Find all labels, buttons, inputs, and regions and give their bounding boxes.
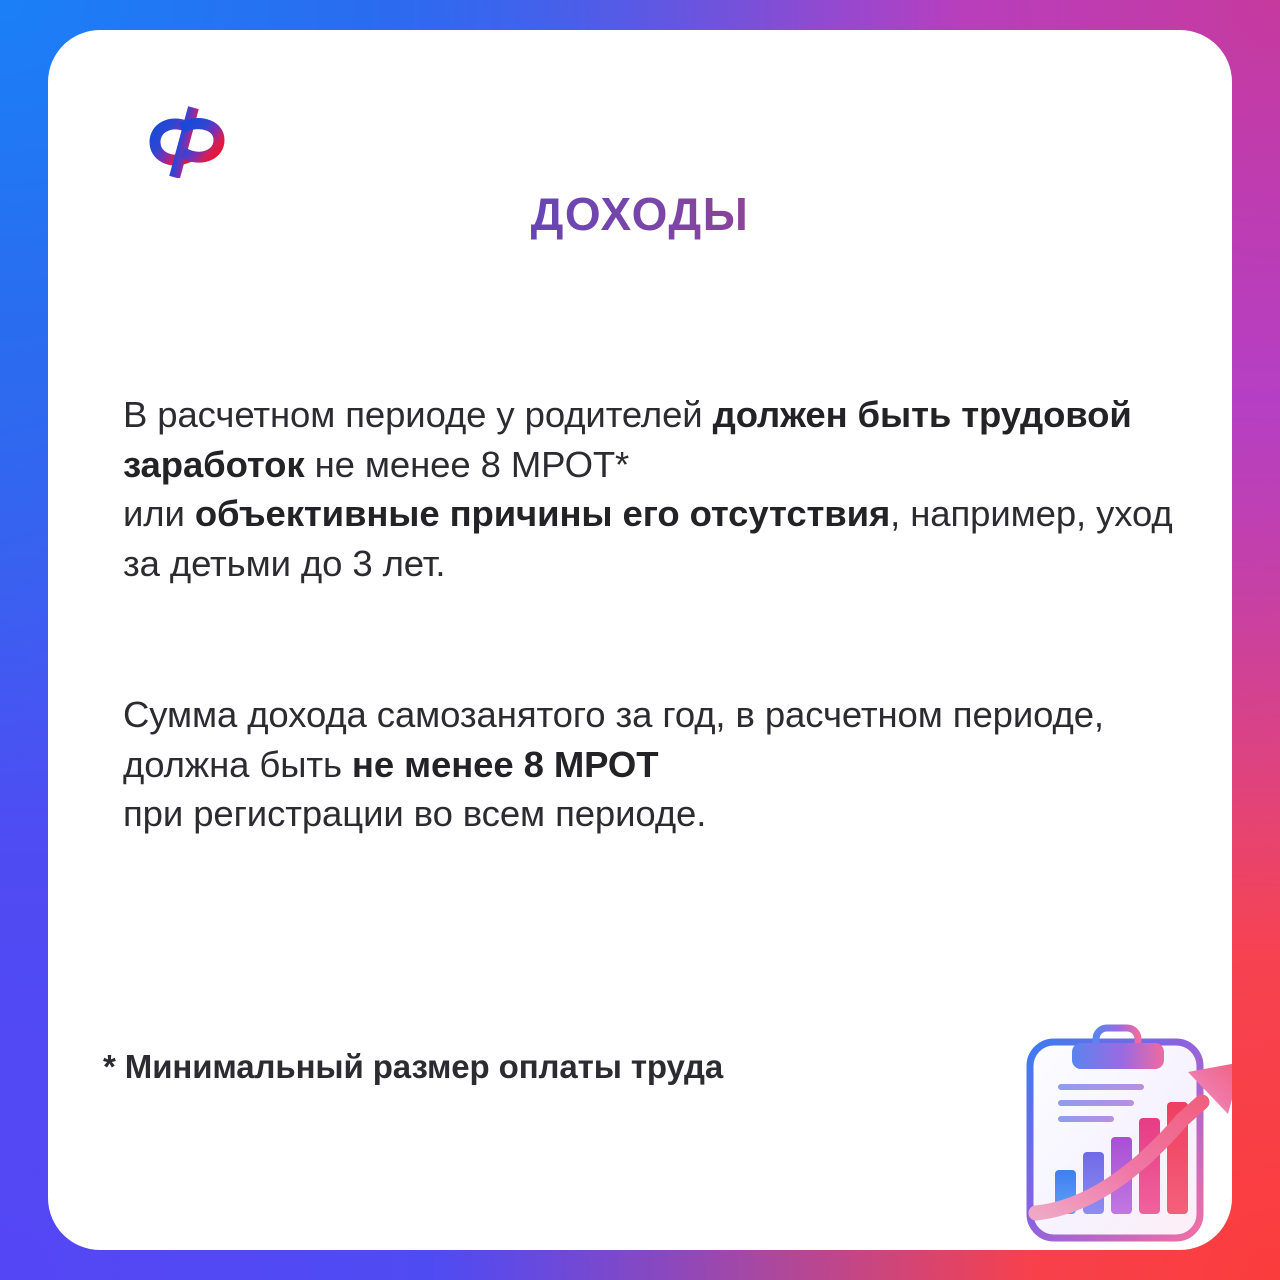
page-title: ДОХОДЫ xyxy=(48,184,1232,244)
p1-part2: не менее 8 МРОТ* xyxy=(305,444,630,485)
poster-background: ДОХОДЫ В расчетном периоде у родителей д… xyxy=(0,0,1280,1280)
sfr-logo-icon xyxy=(146,106,230,178)
p2-part2: при регистрации во всем периоде. xyxy=(123,793,706,834)
p1-part3: или xyxy=(123,493,195,534)
content-card: ДОХОДЫ В расчетном периоде у родителей д… xyxy=(48,30,1232,1250)
p2-bold1: не менее 8 МРОТ xyxy=(352,744,658,785)
footnote-text: * Минимальный размер оплаты труда xyxy=(103,1048,723,1086)
clipboard-bar-chart-growth-arrow-icon xyxy=(1006,1010,1232,1250)
p1-bold2: объективные причины его отсутствия xyxy=(195,493,890,534)
paragraph-selfemployed-income: Сумма дохода самозанятого за год, в расч… xyxy=(123,690,1193,839)
paragraph-income-requirement: В расчетном периоде у родителей должен б… xyxy=(123,390,1193,588)
p1-part1: В расчетном периоде у родителей xyxy=(123,394,713,435)
